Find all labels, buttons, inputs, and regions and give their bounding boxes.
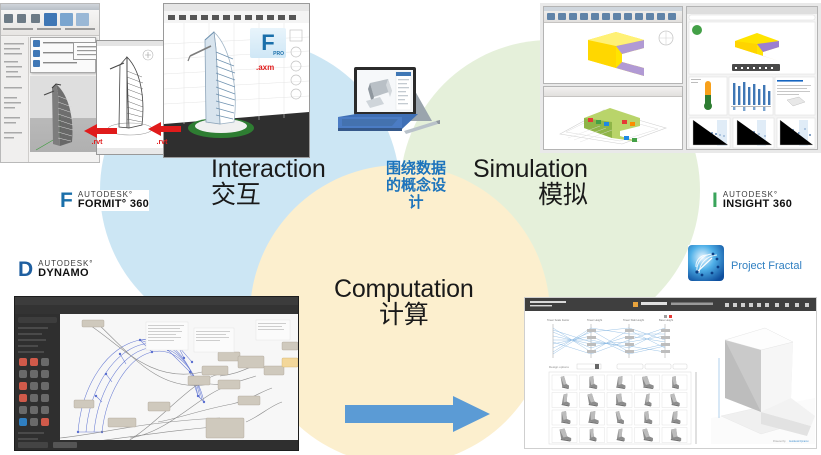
label-file-ext-rvt-right: .rvt [153, 139, 171, 146]
screenshot-insight-360 [540, 3, 821, 153]
venn-label-computation: Computation 计算 [334, 277, 474, 328]
formit-app-badge: F PRO [250, 28, 286, 58]
slide-canvas: .rvt .rvt F PRO .axm [0, 0, 821, 455]
fractal-logo-name: Project Fractal [731, 260, 802, 272]
svg-text:Powered by: Powered by [773, 440, 786, 443]
venn-label-simulation: Simulation 模拟 [473, 157, 588, 208]
revit-ribbon-insight [544, 7, 682, 23]
device-surface-tablet [332, 57, 450, 145]
svg-text:Tower Height: Tower Height [587, 318, 602, 322]
logo-autodesk-dynamo: D AUTODESK° DYNAMO [18, 259, 93, 280]
insight-revit-analysis [543, 86, 683, 150]
svg-text:Base Height: Base Height [659, 318, 673, 322]
venn-label-computation-en: Computation [334, 277, 474, 303]
venn-label-simulation-zh: 模拟 [473, 183, 588, 209]
insight-model-viewport [544, 24, 682, 79]
revit-ribbon-analysis [544, 87, 682, 97]
insight-logo-product: INSIGHT 360 [723, 199, 792, 210]
screenshot-project-fractal: Tower Scale Factor Tower Height Tower Sl… [524, 297, 817, 449]
svg-text:Tower Slab Height: Tower Slab Height [623, 318, 644, 322]
svg-text:Autodesk Dynamo: Autodesk Dynamo [789, 440, 809, 443]
logo-autodesk-insight-360: I AUTODESK° INSIGHT 360 [712, 190, 792, 211]
blue-right-arrow [345, 395, 490, 433]
dynamo-library-panel[interactable] [15, 314, 60, 450]
dynamo-title-bar [15, 297, 298, 305]
venn-center-label: 围绕数据的概念设计 [381, 160, 451, 211]
formit-badge-pro: PRO [273, 51, 284, 57]
venn-label-interaction-en: Interaction [211, 157, 326, 183]
insight-revit-model [543, 6, 683, 84]
dynamo-logo-product: DYNAMO [38, 268, 93, 279]
screenshot-dynamo-graph [14, 296, 299, 451]
venn-label-simulation-en: Simulation [473, 157, 588, 183]
label-file-ext-rvt-left: .rvt [88, 139, 106, 146]
venn-label-interaction: Interaction 交互 [211, 157, 326, 208]
svg-text:Tower Scale Factor: Tower Scale Factor [547, 318, 569, 322]
screenshot-formit-3d [163, 3, 310, 158]
venn-label-interaction-zh: 交互 [211, 183, 326, 209]
dynamo-canvas[interactable] [60, 314, 298, 450]
revit-project-browser [1, 37, 29, 162]
label-file-ext-axm: .axm [256, 63, 274, 72]
insight-logo-glyph: I [712, 190, 718, 211]
insight-dashboard [686, 6, 818, 150]
venn-label-computation-zh: 计算 [334, 303, 474, 329]
dynamo-logo-glyph: D [18, 259, 33, 280]
logo-autodesk-formit-360: F AUTODESK° FORMIT° 360 [60, 190, 149, 211]
fractal-logo-icon [688, 245, 724, 286]
svg-text:Design options: Design options [549, 365, 569, 369]
logo-project-fractal: Project Fractal [688, 245, 802, 286]
revit-ribbon [1, 10, 99, 36]
dynamo-menu-bar [15, 305, 298, 314]
insight-analysis-viewport [544, 98, 682, 145]
formit-logo-glyph: F [60, 190, 73, 211]
formit-logo-product: FORMIT° 360 [78, 199, 149, 210]
